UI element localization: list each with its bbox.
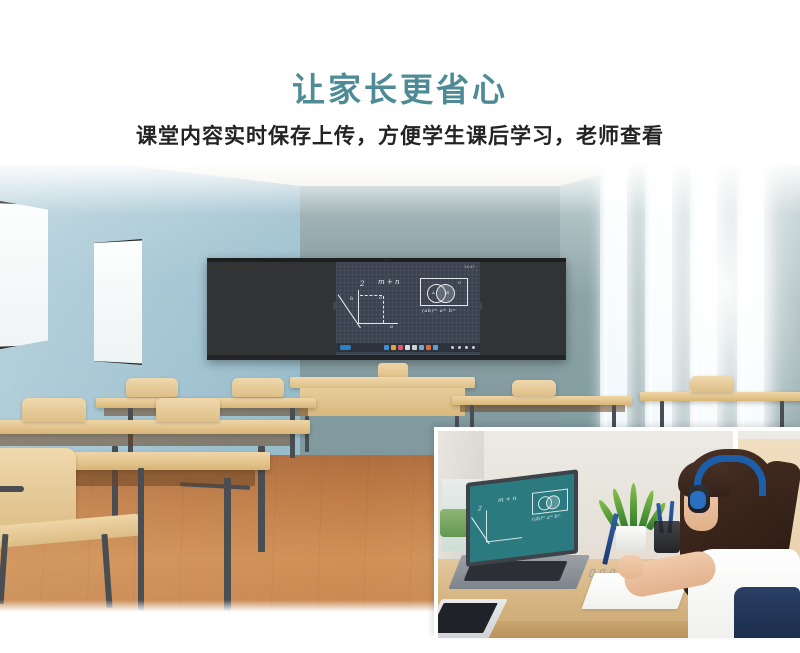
student-desk xyxy=(640,392,800,401)
laptop-graph-line xyxy=(471,517,490,544)
page-headline: 让家长更省心 xyxy=(0,70,800,110)
ink-label-b: b xyxy=(350,296,353,302)
student-desk xyxy=(0,420,310,434)
laptop-venn-circle-b xyxy=(546,494,560,510)
student-chair xyxy=(512,380,556,396)
power-icon[interactable] xyxy=(472,346,475,349)
desk-leg xyxy=(138,468,144,618)
ink-formula: (ab)ᵐ aᵐ bᵐ xyxy=(422,308,456,314)
venn-label-u: U xyxy=(458,280,461,285)
whiteboard-screen[interactable]: 14:47 2 m + n b a o A B U xyxy=(336,262,480,356)
venn-box: A B U xyxy=(420,278,468,306)
back-icon[interactable] xyxy=(451,346,454,349)
wall-whiteboard-large xyxy=(0,199,48,351)
ink-label-2: 2 xyxy=(360,280,364,288)
teacher-desk-front xyxy=(300,388,465,416)
girl-hand xyxy=(618,555,644,579)
girl-overalls xyxy=(734,587,800,638)
plant-pot xyxy=(616,526,646,552)
interactive-whiteboard[interactable]: 14:47 2 m + n b a o A B U xyxy=(207,258,566,360)
laptop-graph-x-axis xyxy=(486,537,522,542)
graph-dashed-horizontal xyxy=(360,295,382,296)
page-subheadline: 课堂内容实时保存上传，方便学生课后学习，老师查看 xyxy=(0,122,800,152)
graph-x-axis xyxy=(358,323,398,324)
promo-page: 14:47 2 m + n b a o A B U xyxy=(0,0,800,653)
headphone-earcup-accent xyxy=(690,491,706,509)
student-study-photo: 2 m + n (ab)ᵐ aᵐ bᵐ xyxy=(434,427,800,638)
header: 让家长更省心 课堂内容实时保存上传，方便学生课后学习，老师查看 xyxy=(0,0,800,165)
student-desk xyxy=(452,396,632,405)
screen-clock: 14:47 xyxy=(464,265,475,269)
student-chair xyxy=(156,398,220,422)
venn-label-a: A xyxy=(432,290,435,295)
graph-y-axis xyxy=(358,290,359,324)
laptop-formula: (ab)ᵐ aᵐ bᵐ xyxy=(532,513,561,523)
desk-side xyxy=(460,405,625,412)
tablet-screen xyxy=(438,603,498,633)
pencil-cup xyxy=(654,521,680,553)
ink-label-a: a xyxy=(390,324,393,330)
image-icon[interactable] xyxy=(426,345,431,350)
laptop-screen: 2 m + n (ab)ᵐ aᵐ bᵐ xyxy=(466,469,578,567)
brush-icon[interactable] xyxy=(391,345,396,350)
venn-label-b: B xyxy=(446,290,449,295)
whiteboard-toolbar[interactable] xyxy=(336,343,480,352)
desk-leg xyxy=(224,478,231,612)
palette-icon[interactable] xyxy=(398,345,403,350)
ink-label-mn: m + n xyxy=(378,278,399,286)
student-chair xyxy=(22,398,86,422)
student-chair xyxy=(690,376,734,392)
system-controls[interactable] xyxy=(451,345,477,350)
student-chair xyxy=(126,378,178,397)
pen-icon[interactable] xyxy=(384,345,389,350)
laptop-venn-box xyxy=(532,488,568,514)
student-chair xyxy=(232,378,284,397)
text-icon[interactable] xyxy=(405,345,410,350)
teacher-desk xyxy=(290,377,475,388)
camera-icon xyxy=(383,259,391,261)
graph-dashed-vertical xyxy=(383,296,384,323)
laptop-ink-label-mn: m + n xyxy=(498,495,516,504)
save-icon[interactable] xyxy=(433,345,438,350)
panel-bottom-bezel xyxy=(207,355,566,360)
menu-icon[interactable] xyxy=(458,346,461,349)
inset-image: 2 m + n (ab)ᵐ aᵐ bᵐ xyxy=(438,431,800,638)
volume-icon[interactable] xyxy=(465,346,468,349)
desk-side xyxy=(0,434,290,446)
home-button[interactable] xyxy=(340,345,351,350)
chair-armrest xyxy=(0,486,24,492)
eraser-icon[interactable] xyxy=(412,345,417,350)
laptop-ink-label-2: 2 xyxy=(478,505,482,512)
wall-whiteboard-small xyxy=(94,239,142,365)
shape-icon[interactable] xyxy=(419,345,424,350)
